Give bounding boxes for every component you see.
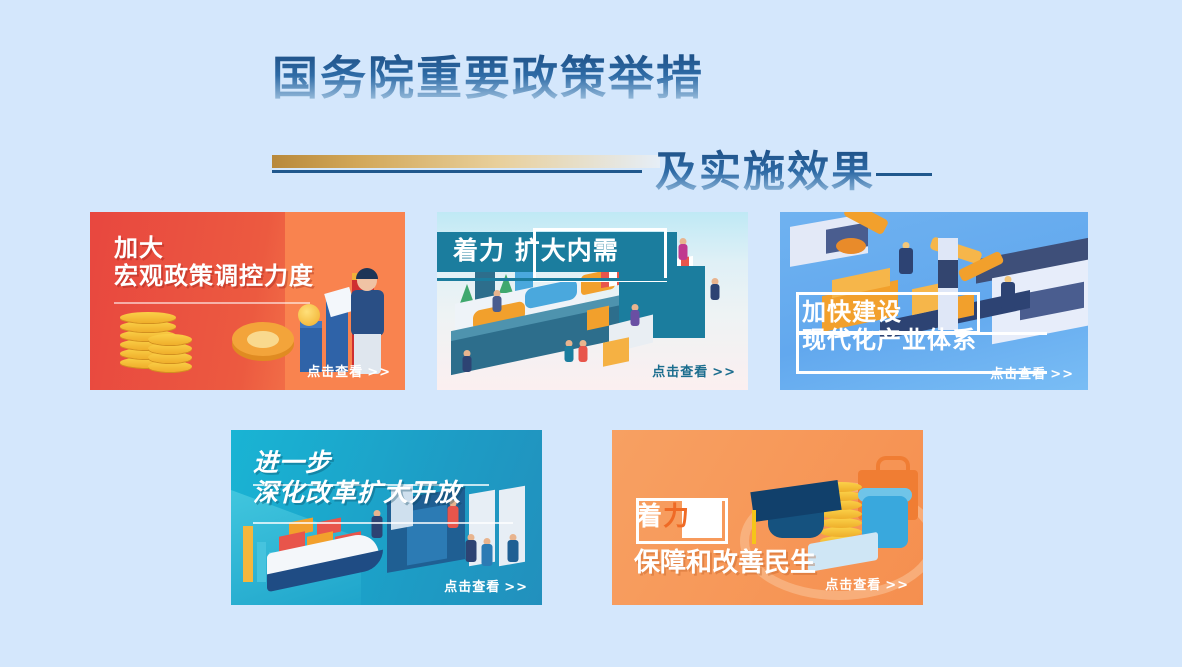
- page-title-line1: 国务院重要政策举措: [272, 52, 704, 104]
- card3-cta-label: 点击查看: [990, 367, 1046, 382]
- card4-cta-label: 点击查看: [444, 580, 500, 595]
- card4-cta-arrows-icon: >>: [504, 580, 528, 595]
- card4-title-line1: 进一步: [253, 448, 331, 477]
- card5-title-line1: 着力: [636, 502, 690, 533]
- coin-icon: [298, 304, 320, 326]
- card5-cta[interactable]: 点击查看>>: [825, 574, 909, 593]
- card4-title-line2: 深化改革扩大开放: [253, 478, 461, 507]
- card5-title-line2: 保障和改善民生: [634, 542, 816, 579]
- card5-cta-arrows-icon: >>: [885, 578, 909, 593]
- card3-title-line1: 加快建设: [802, 298, 902, 326]
- card3-cta[interactable]: 点击查看>>: [990, 363, 1074, 382]
- card-macro-policy-regulation[interactable]: 加大 宏观政策调控力度 点击查看>>: [90, 212, 405, 390]
- card4-cta[interactable]: 点击查看>>: [444, 576, 528, 595]
- title-rule: [272, 170, 642, 173]
- title-dash: [876, 173, 932, 176]
- card2-cta-arrows-icon: >>: [712, 365, 736, 380]
- card4-title: 进一步 深化改革扩大开放: [253, 448, 461, 507]
- tree-icon: [499, 274, 513, 293]
- card2-cta[interactable]: 点击查看>>: [652, 361, 736, 380]
- card-deepen-reform-opening-up[interactable]: 进一步 深化改革扩大开放 点击查看>>: [231, 430, 542, 605]
- card2-title: 着力 扩大内需: [453, 236, 619, 266]
- page-root: 国务院重要政策举措 及实施效果: [0, 0, 1182, 667]
- card1-cta-label: 点击查看: [307, 365, 363, 380]
- card1-cta[interactable]: 点击查看>>: [307, 361, 391, 380]
- card1-title-line2: 宏观政策调控力度: [114, 262, 314, 290]
- card1-cta-arrows-icon: >>: [367, 365, 391, 380]
- title-gold-bar: [272, 155, 660, 168]
- card3-title: 加快建设 现代化产业体系: [802, 298, 977, 355]
- card-safeguard-improve-livelihood[interactable]: 着力 保障和改善民生 点击查看>>: [612, 430, 923, 605]
- card5-title-part1: 着: [636, 502, 663, 532]
- coin-stack-small-icon: [148, 330, 192, 372]
- page-title-line2: 及实施效果: [655, 148, 875, 196]
- card5-cta-label: 点击查看: [825, 578, 881, 593]
- card1-title: 加大 宏观政策调控力度: [114, 234, 314, 291]
- card2-title-part1: 着力: [453, 236, 505, 265]
- businessman-illustration: [345, 270, 391, 374]
- card-expand-domestic-demand[interactable]: 着力 扩大内需 点击查看>>: [437, 212, 748, 390]
- card2-title-part2: 扩大内需: [515, 236, 619, 265]
- card1-title-line1: 加大: [114, 234, 164, 262]
- card-modern-industrial-system[interactable]: 加快建设 现代化产业体系 点击查看>>: [780, 212, 1088, 390]
- card3-title-line2: 现代化产业体系: [802, 326, 977, 354]
- card2-cta-label: 点击查看: [652, 365, 708, 380]
- card3-cta-arrows-icon: >>: [1050, 367, 1074, 382]
- page-title: 国务院重要政策举措 及实施效果: [0, 52, 1182, 162]
- card5-title-part2: 力: [663, 502, 690, 532]
